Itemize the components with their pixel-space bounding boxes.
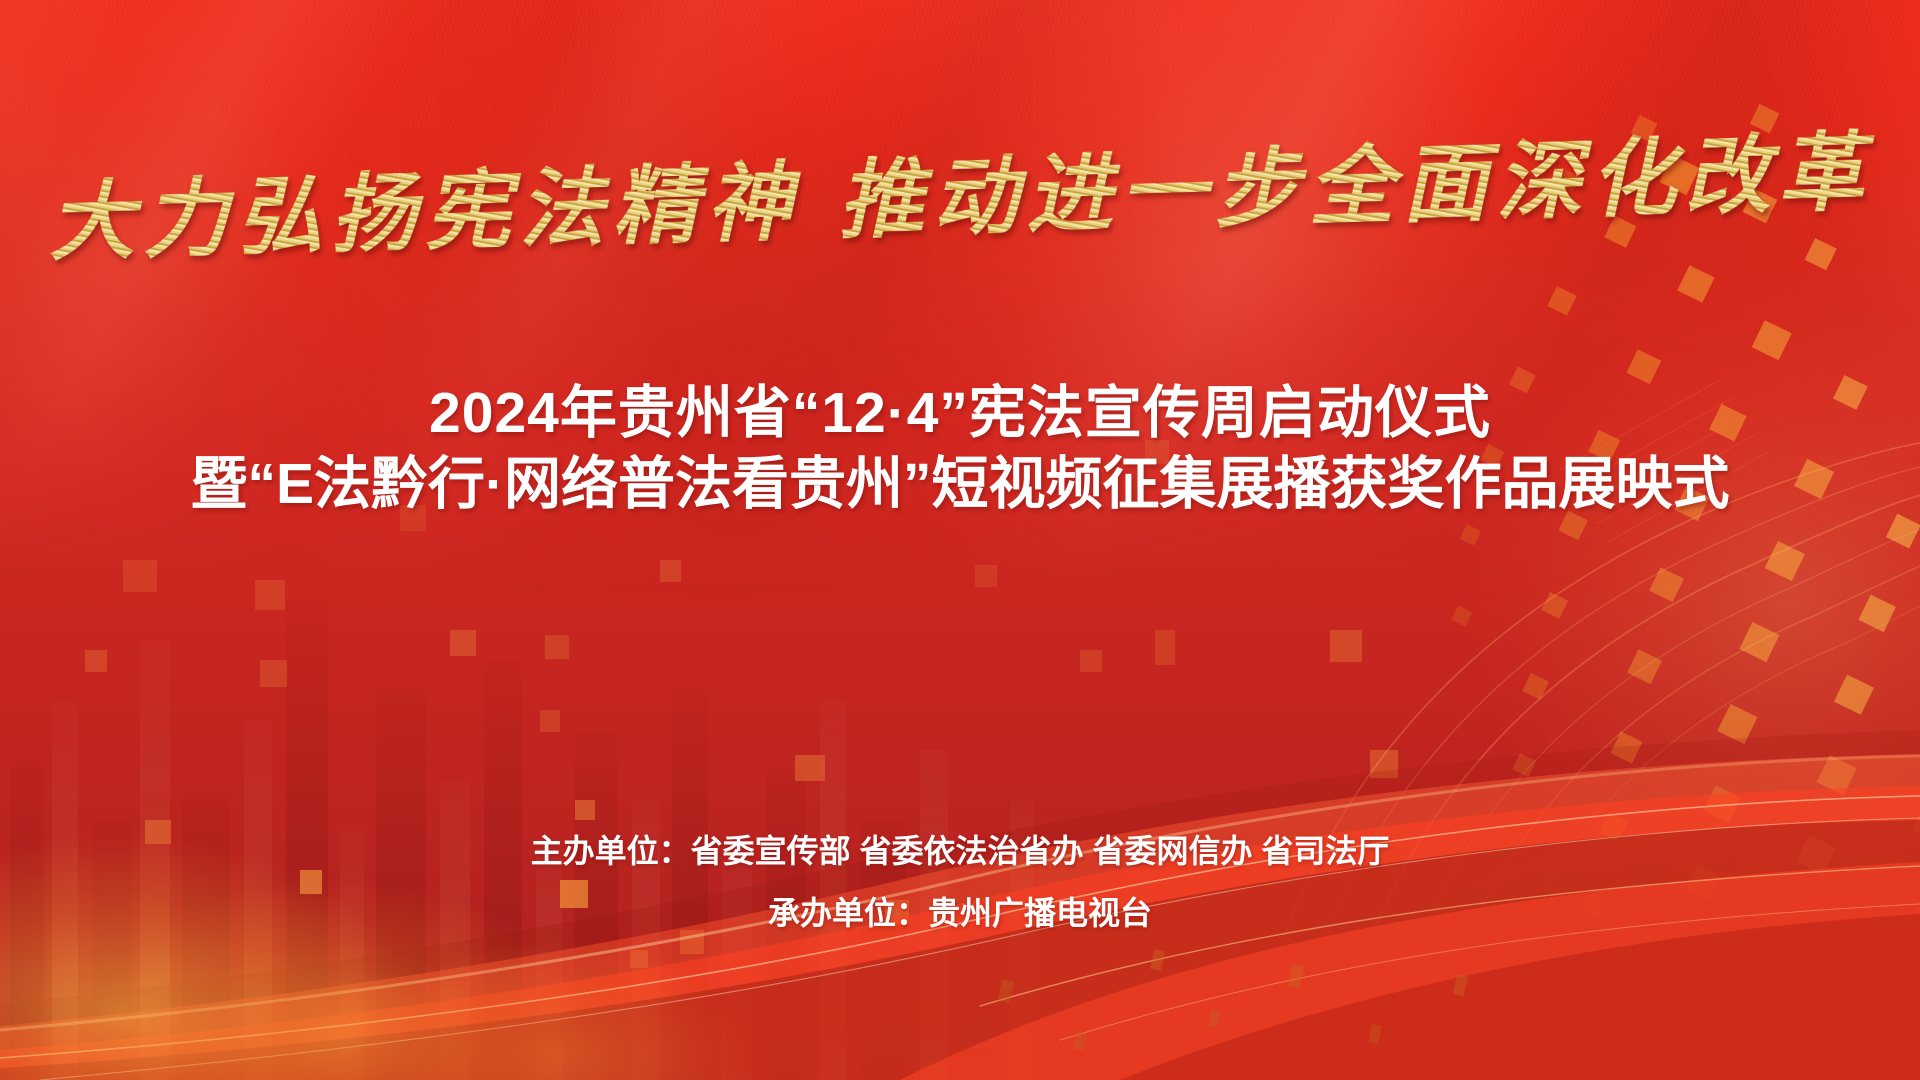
event-title-line-2: 暨“E法黔行·网络普法看贵州”短视频征集展播获奖作品展映式 <box>0 447 1920 522</box>
poster-content: 大力弘扬宪法精神推动进一步全面深化改革 2024年贵州省“12·4”宪法宣传周启… <box>0 0 1920 1080</box>
event-title: 2024年贵州省“12·4”宪法宣传周启动仪式 暨“E法黔行·网络普法看贵州”短… <box>0 380 1920 522</box>
calligraphy-slogan: 大力弘扬宪法精神推动进一步全面深化改革 <box>0 123 1920 273</box>
calligraphy-gap <box>801 230 839 231</box>
poster-stage: 大力弘扬宪法精神推动进一步全面深化改革 2024年贵州省“12·4”宪法宣传周启… <box>0 0 1920 1080</box>
organizer-credits: 主办单位：省委宣传部 省委依法治省办 省委网信办 省司法厅 承办单位：贵州广播电… <box>0 820 1920 945</box>
calligraphy-slogan-part-1: 大力弘扬宪法精神 <box>47 151 802 273</box>
organizer-units-line: 承办单位：贵州广播电视台 <box>0 882 1920 944</box>
event-title-line-1: 2024年贵州省“12·4”宪法宣传周启动仪式 <box>0 380 1920 447</box>
calligraphy-slogan-part-2: 推动进一步全面深化改革 <box>837 122 1873 252</box>
host-units-line: 主办单位：省委宣传部 省委依法治省办 省委网信办 省司法厅 <box>0 820 1920 882</box>
